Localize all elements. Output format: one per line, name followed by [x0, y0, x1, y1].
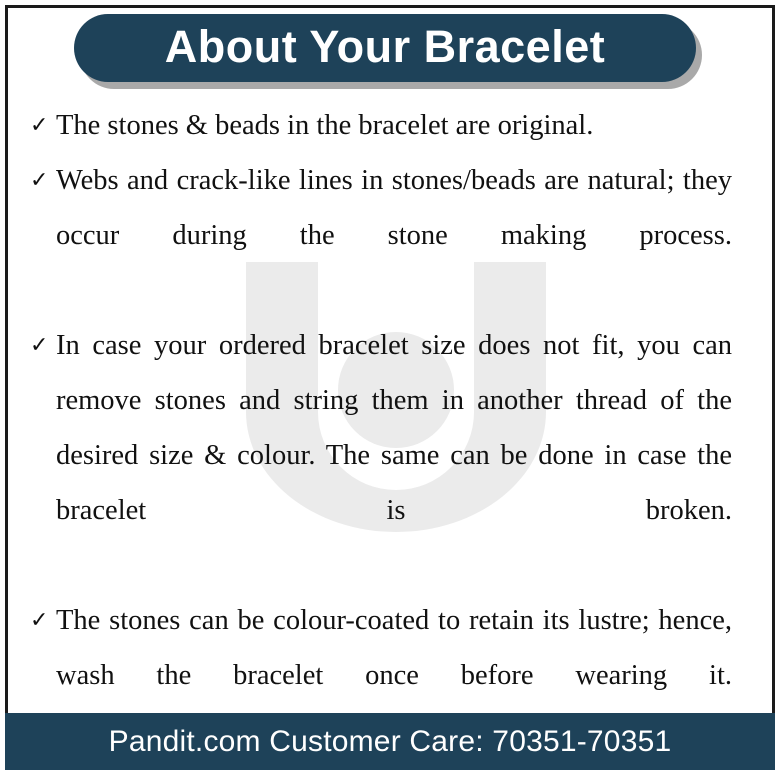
- customer-care-text: Pandit.com Customer Care: 70351-70351: [109, 725, 672, 759]
- list-item-text: The stones & beads in the bracelet are o…: [56, 98, 754, 153]
- footer-bar: Pandit.com Customer Care: 70351-70351: [5, 713, 775, 770]
- check-icon: ✓: [26, 318, 56, 373]
- list-item: ✓ In case your ordered bracelet size doe…: [0, 318, 780, 593]
- list-item-text: In case your ordered bracelet size does …: [56, 318, 754, 593]
- check-icon: ✓: [26, 153, 56, 208]
- list-item: ✓ Webs and crack-like lines in stones/be…: [0, 153, 780, 318]
- page-title: About Your Bracelet: [165, 24, 605, 72]
- list-item-text: Webs and crack-like lines in stones/bead…: [56, 153, 754, 318]
- list-item: ✓ The stones & beads in the bracelet are…: [0, 98, 780, 153]
- check-icon: ✓: [26, 98, 56, 153]
- bullet-list: ✓ The stones & beads in the bracelet are…: [0, 98, 780, 758]
- header: About Your Bracelet: [0, 14, 780, 92]
- check-icon: ✓: [26, 593, 56, 648]
- header-pill: About Your Bracelet: [74, 14, 696, 82]
- about-your-bracelet-card: About Your Bracelet ✓ The stones & beads…: [0, 0, 780, 780]
